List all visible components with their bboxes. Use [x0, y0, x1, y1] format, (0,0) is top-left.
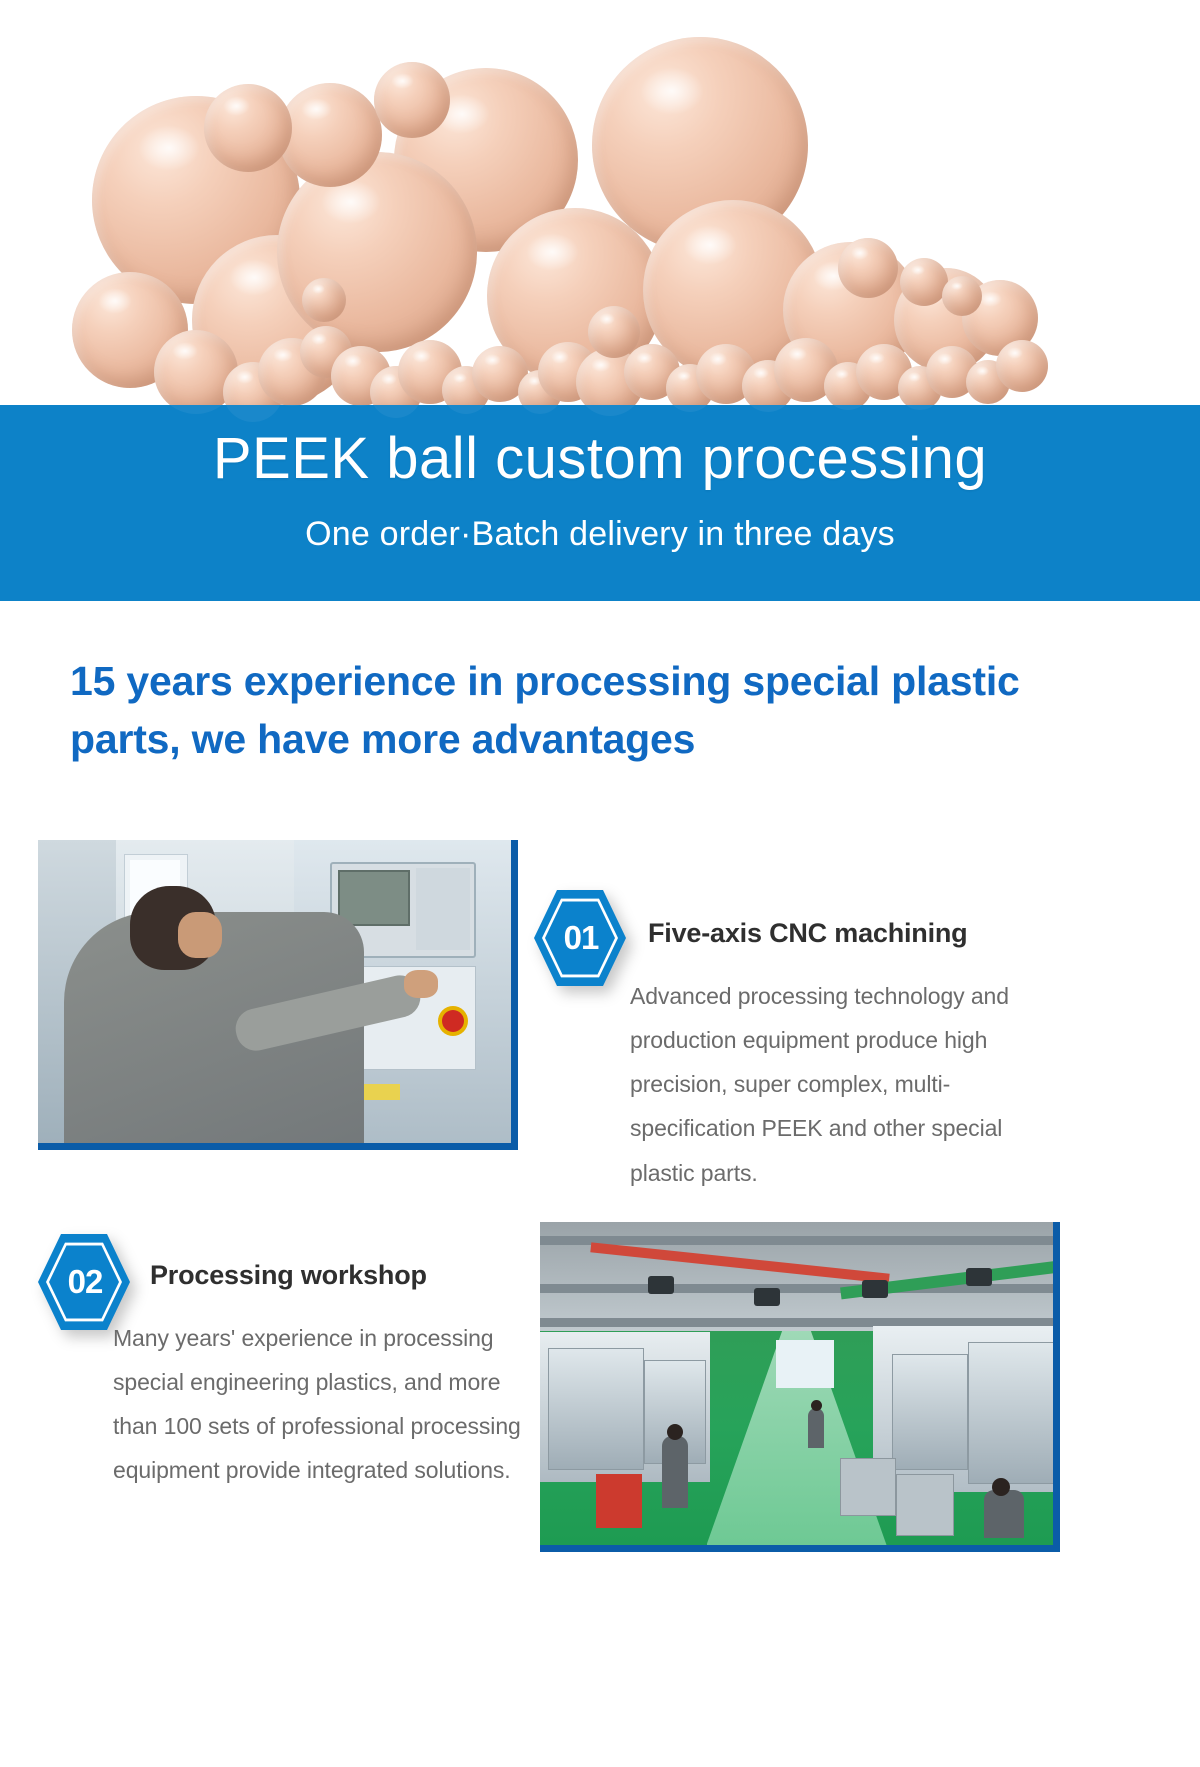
peek-ball-shadow — [742, 405, 794, 412]
feature-badge-01: 01 — [534, 888, 626, 988]
photo2-lamp — [966, 1268, 992, 1286]
peek-ball-shadow — [824, 405, 872, 410]
photo2-worker — [984, 1490, 1024, 1538]
peek-ball-shadow — [223, 405, 283, 422]
feature-body-02: Many years' experience in processing spe… — [113, 1316, 523, 1493]
peek-ball-shadow — [518, 405, 562, 414]
feature-title-01: Five-axis CNC machining — [648, 918, 967, 949]
photo2-cart — [896, 1474, 954, 1536]
photo1-operator-hand — [404, 970, 438, 998]
peek-ball — [996, 340, 1048, 392]
photo2-red-cart — [596, 1474, 642, 1528]
banner-subtitle: One order·Batch delivery in three days — [0, 515, 1200, 554]
photo2-lamp — [754, 1288, 780, 1306]
hero-banner: PEEK ball custom processing One order·Ba… — [0, 405, 1200, 601]
photo2-machine — [892, 1354, 968, 1470]
photo1-emergency-stop — [442, 1010, 464, 1032]
peek-ball — [302, 278, 346, 322]
feature-body-01: Advanced processing technology and produ… — [630, 974, 1065, 1195]
peek-ball — [588, 306, 640, 358]
peek-ball-shadow — [154, 405, 238, 414]
peek-ball — [942, 276, 982, 316]
photo2-window — [776, 1340, 834, 1388]
photo1-keypad-upper — [416, 868, 470, 950]
peek-ball-shadow — [442, 405, 490, 414]
feature-title-02: Processing workshop — [150, 1260, 427, 1291]
peek-ball — [900, 258, 948, 306]
photo2-lamp — [862, 1280, 888, 1298]
peek-ball — [278, 83, 382, 187]
feature-image-cnc — [38, 840, 518, 1150]
photo2-worker-head — [992, 1478, 1010, 1496]
photo2-cart — [840, 1458, 896, 1516]
photo2-worker-head — [811, 1400, 822, 1411]
feature-image-workshop — [540, 1222, 1060, 1552]
photo2-worker — [808, 1408, 824, 1448]
photo2-worker-head — [667, 1424, 683, 1440]
section-headline: 15 years experience in processing specia… — [70, 652, 1090, 768]
photo2-beam — [540, 1236, 1053, 1245]
peek-ball-shadow — [898, 405, 942, 410]
photo1-screen — [338, 870, 410, 926]
photo1-operator-face — [178, 912, 222, 958]
banner-title: PEEK ball custom processing — [0, 429, 1200, 490]
peek-ball — [374, 62, 450, 138]
photo2-machine — [968, 1342, 1060, 1484]
peek-ball — [838, 238, 898, 298]
photo2-machine — [548, 1348, 644, 1470]
photo2-worker — [662, 1436, 688, 1508]
badge-number: 01 — [534, 888, 626, 988]
peek-ball-shadow — [576, 405, 644, 416]
photo2-lamp — [648, 1276, 674, 1294]
peek-ball-shadow — [666, 405, 714, 412]
peek-ball — [204, 84, 292, 172]
peek-ball-shadow — [370, 405, 422, 418]
hero-ball-image — [0, 0, 1200, 410]
